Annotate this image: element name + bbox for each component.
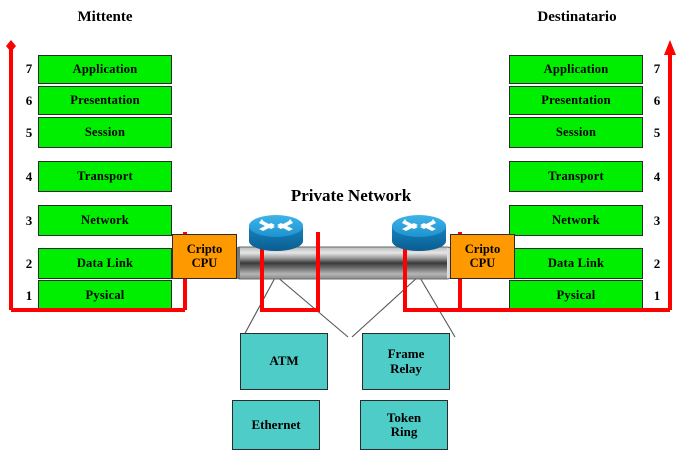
receiver-layer-network[interactable]: Network — [509, 205, 643, 236]
receiver-layer-session[interactable]: Session — [509, 117, 643, 148]
sender-layer-session[interactable]: Session — [38, 117, 172, 148]
sender-layer-number-2: 2 — [22, 252, 36, 276]
sender-layer-presentation[interactable]: Presentation — [38, 86, 172, 115]
receiver-layer-number-1: 1 — [650, 284, 664, 308]
tech-box-token-ring[interactable]: Token Ring — [360, 400, 448, 450]
sender-layer-network[interactable]: Network — [38, 205, 172, 236]
tech-box-frame-relay-line1: Frame — [388, 347, 425, 361]
sender-layer-transport[interactable]: Transport — [38, 161, 172, 192]
receiver-layer-number-3: 3 — [650, 209, 664, 233]
sender-layer-application[interactable]: Application — [38, 55, 172, 84]
sender-layer-number-3: 3 — [22, 209, 36, 233]
receiver-layer-application[interactable]: Application — [509, 55, 643, 84]
network-diagram-canvas: Mittente Destinatario Private Network — [0, 0, 681, 460]
private-network-title: Private Network — [238, 186, 464, 206]
receiver-layer-number-6: 6 — [650, 89, 664, 113]
receiver-stack-title: Destinatario — [510, 9, 644, 26]
receiver-layer-presentation[interactable]: Presentation — [509, 86, 643, 115]
sender-stack-title: Mittente — [38, 9, 172, 26]
receiver-layer-datalink[interactable]: Data Link — [509, 248, 643, 279]
crypto-cpu-receiver-line2: CPU — [470, 257, 496, 271]
tech-box-atm-line1: ATM — [269, 354, 298, 368]
crypto-cpu-sender-line1: Cripto — [187, 243, 222, 257]
receiver-layer-number-5: 5 — [650, 121, 664, 145]
sender-layer-number-5: 5 — [22, 121, 36, 145]
sender-layer-number-6: 6 — [22, 89, 36, 113]
receiver-layer-transport[interactable]: Transport — [509, 161, 643, 192]
receiver-layer-physical[interactable]: Pysical — [509, 280, 643, 310]
tech-box-frame-relay[interactable]: Frame Relay — [362, 333, 450, 390]
crypto-cpu-sender-line2: CPU — [192, 257, 218, 271]
sender-layer-number-4: 4 — [22, 165, 36, 189]
sender-layer-physical[interactable]: Pysical — [38, 280, 172, 310]
crypto-cpu-receiver-line1: Cripto — [465, 243, 500, 257]
sender-layer-number-1: 1 — [22, 284, 36, 308]
tech-box-ethernet[interactable]: Ethernet — [232, 400, 320, 450]
tech-box-token-ring-line2: Ring — [391, 425, 418, 439]
sender-layer-datalink[interactable]: Data Link — [38, 248, 172, 279]
router-icon-right — [392, 215, 446, 251]
receiver-layer-number-7: 7 — [650, 57, 664, 81]
receiver-layer-number-4: 4 — [650, 165, 664, 189]
crypto-cpu-receiver[interactable]: Cripto CPU — [450, 234, 515, 279]
tech-box-ethernet-line1: Ethernet — [251, 418, 300, 432]
crypto-cpu-sender[interactable]: Cripto CPU — [172, 234, 237, 279]
router-icon-left — [249, 215, 303, 251]
sender-layer-number-7: 7 — [22, 57, 36, 81]
receiver-layer-number-2: 2 — [650, 252, 664, 276]
tech-box-frame-relay-line2: Relay — [390, 362, 422, 376]
tech-box-token-ring-line1: Token — [387, 411, 421, 425]
tech-box-atm[interactable]: ATM — [240, 333, 328, 390]
